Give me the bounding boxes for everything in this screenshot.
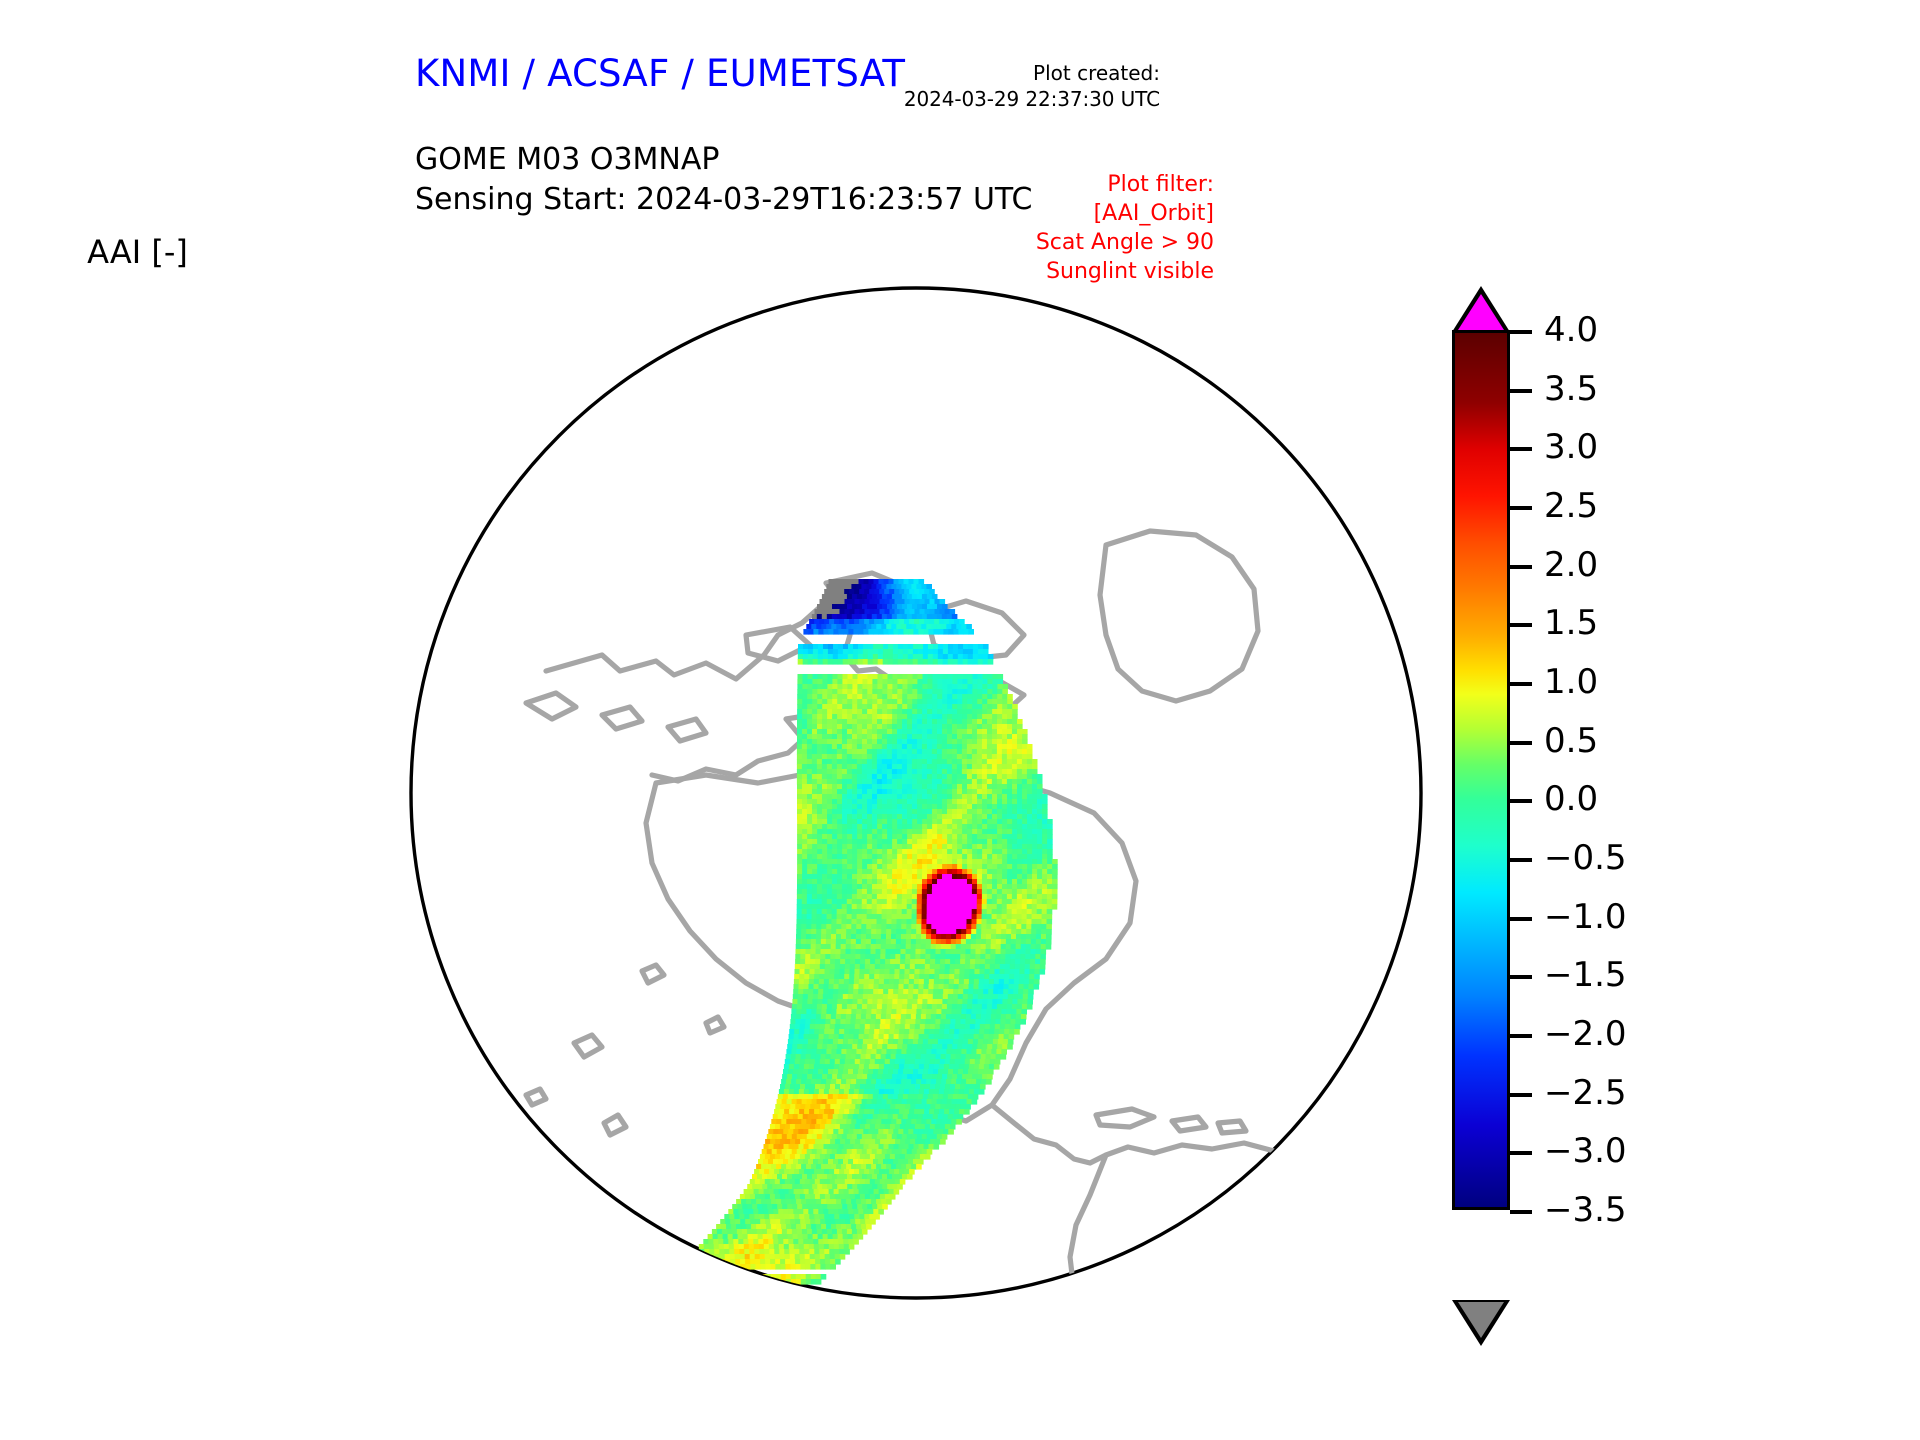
colorbar-label-2: 3.0 bbox=[1544, 427, 1598, 467]
plot-filter-block: Plot filter: [AAI_Orbit] Scat Angle > 90… bbox=[1036, 170, 1214, 286]
plot-created-value: 2024-03-29 22:37:30 UTC bbox=[904, 86, 1160, 112]
sensing-start-line: Sensing Start: 2024-03-29T16:23:57 UTC bbox=[415, 180, 1032, 220]
colorbar-label-12: −2.0 bbox=[1544, 1014, 1627, 1054]
colorbar-label-15: −3.5 bbox=[1544, 1190, 1627, 1230]
colorbar-label-8: 0.0 bbox=[1544, 779, 1598, 819]
colorbar-tick-1 bbox=[1510, 389, 1532, 393]
colorbar-over-arrow bbox=[1452, 286, 1510, 332]
colorbar-label-3: 2.5 bbox=[1544, 486, 1598, 526]
colorbar-label-1: 3.5 bbox=[1544, 369, 1598, 409]
colorbar-tick-15 bbox=[1510, 1210, 1532, 1214]
colorbar-tick-0 bbox=[1510, 330, 1532, 334]
plot-title-text: AAI [-] bbox=[87, 233, 188, 271]
colorbar-label-5: 1.5 bbox=[1544, 603, 1598, 643]
colorbar: 4.03.53.02.52.01.51.00.50.0−0.5−1.0−1.5−… bbox=[1452, 290, 1632, 1300]
colorbar-tick-10 bbox=[1510, 917, 1532, 921]
plot-filter-line-0: Plot filter: bbox=[1036, 170, 1214, 199]
globe-svg bbox=[406, 283, 1426, 1303]
colorbar-label-14: −3.0 bbox=[1544, 1131, 1627, 1171]
colorbar-tick-8 bbox=[1510, 799, 1532, 803]
plot-created-block: Plot created: 2024-03-29 22:37:30 UTC bbox=[904, 60, 1160, 112]
colorbar-label-10: −1.0 bbox=[1544, 897, 1627, 937]
organisation-banner: KNMI / ACSAF / EUMETSAT bbox=[415, 52, 905, 95]
colorbar-label-7: 0.5 bbox=[1544, 721, 1598, 761]
plot-title: AAI [-] bbox=[0, 233, 1445, 271]
colorbar-tick-13 bbox=[1510, 1093, 1532, 1097]
colorbar-label-13: −2.5 bbox=[1544, 1073, 1627, 1113]
plot-created-label: Plot created: bbox=[904, 60, 1160, 86]
colorbar-label-11: −1.5 bbox=[1544, 955, 1627, 995]
colorbar-tick-7 bbox=[1510, 741, 1532, 745]
colorbar-tick-9 bbox=[1510, 858, 1532, 862]
colorbar-label-4: 2.0 bbox=[1544, 545, 1598, 585]
plot-filter-line-3: Sunglint visible bbox=[1036, 257, 1214, 286]
colorbar-ticks: 4.03.53.02.52.01.51.00.50.0−0.5−1.0−1.5−… bbox=[1452, 330, 1612, 1210]
colorbar-tick-2 bbox=[1510, 447, 1532, 451]
colorbar-label-0: 4.0 bbox=[1544, 310, 1598, 350]
colorbar-label-9: −0.5 bbox=[1544, 838, 1627, 878]
colorbar-tick-12 bbox=[1510, 1034, 1532, 1038]
colorbar-under-arrow bbox=[1452, 1300, 1510, 1346]
plot-filter-line-1: [AAI_Orbit] bbox=[1036, 199, 1214, 228]
instrument-line: GOME M03 O3MNAP bbox=[415, 140, 1032, 180]
colorbar-label-6: 1.0 bbox=[1544, 662, 1598, 702]
plot-filter-line-2: Scat Angle > 90 bbox=[1036, 228, 1214, 257]
colorbar-tick-3 bbox=[1510, 506, 1532, 510]
colorbar-tick-4 bbox=[1510, 565, 1532, 569]
product-metadata: GOME M03 O3MNAP Sensing Start: 2024-03-2… bbox=[415, 140, 1032, 219]
colorbar-tick-11 bbox=[1510, 975, 1532, 979]
colorbar-tick-14 bbox=[1510, 1151, 1532, 1155]
colorbar-tick-6 bbox=[1510, 682, 1532, 686]
globe-map bbox=[406, 283, 1426, 1303]
colorbar-tick-5 bbox=[1510, 623, 1532, 627]
